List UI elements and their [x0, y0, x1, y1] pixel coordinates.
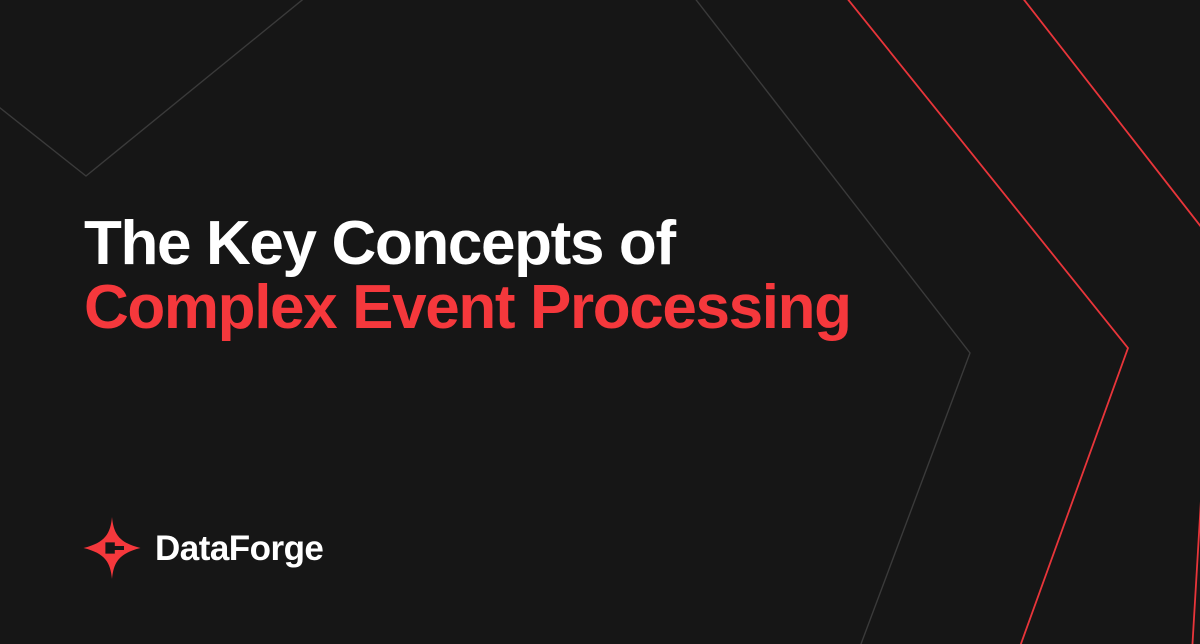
brand-logo: DataForge	[82, 516, 323, 580]
headline-line-1: The Key Concepts of	[84, 212, 851, 276]
social-card: The Key Concepts of Complex Event Proces…	[0, 0, 1200, 644]
headline-line-2: Complex Event Processing	[84, 276, 851, 340]
page-title: The Key Concepts of Complex Event Proces…	[84, 212, 851, 340]
four-point-star-forge-icon	[82, 516, 142, 580]
brand-name: DataForge	[155, 531, 323, 566]
